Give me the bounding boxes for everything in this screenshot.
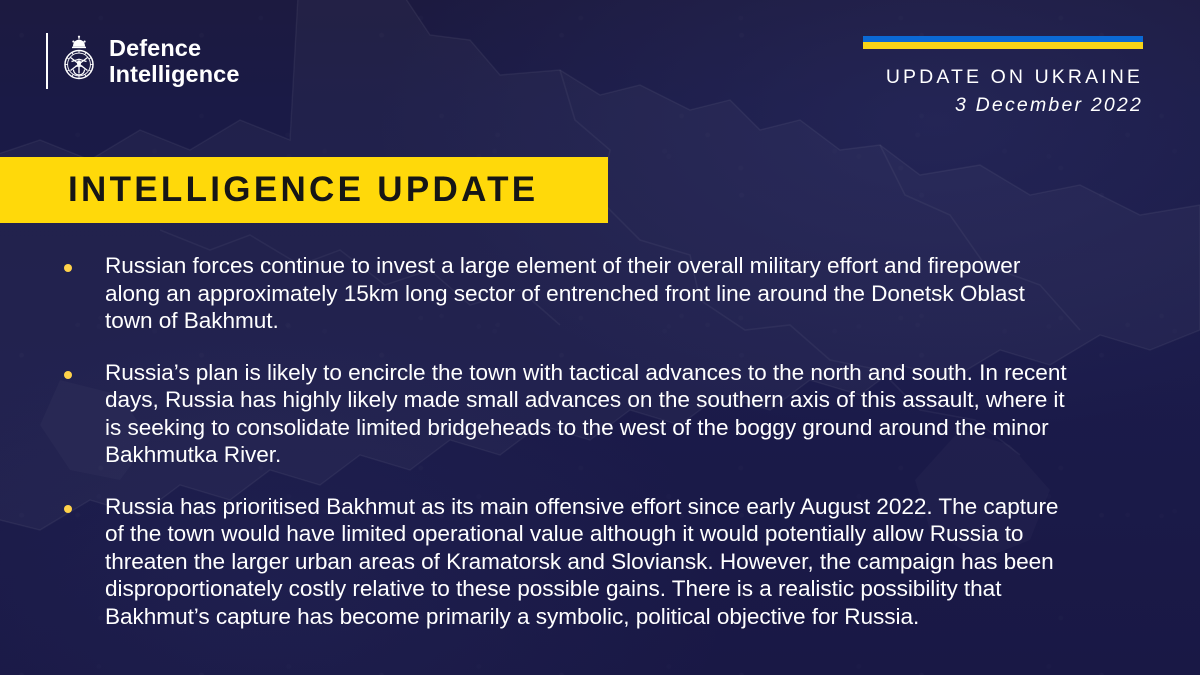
update-on-ukraine-title: UPDATE ON UKRAINE bbox=[863, 66, 1143, 89]
logo-line-intelligence: Intelligence bbox=[109, 61, 239, 87]
header-right-block: UPDATE ON UKRAINE 3 December 2022 bbox=[863, 36, 1143, 117]
bullet-dot-icon bbox=[64, 505, 72, 513]
bullet-text: Russia has prioritised Bakhmut as its ma… bbox=[105, 493, 1076, 631]
intelligence-update-graphic: Defence Intelligence UPDATE ON UKRAINE 3… bbox=[0, 0, 1200, 675]
list-item: Russia’s plan is likely to encircle the … bbox=[64, 359, 1076, 469]
list-item: Russian forces continue to invest a larg… bbox=[64, 252, 1076, 335]
logo-divider-rule bbox=[46, 33, 48, 89]
update-date: 3 December 2022 bbox=[863, 94, 1143, 117]
logo-line-defence: Defence bbox=[109, 35, 239, 61]
flag-stripe-yellow bbox=[863, 42, 1143, 49]
bullet-list: Russian forces continue to invest a larg… bbox=[64, 252, 1076, 630]
bullet-dot-icon bbox=[64, 371, 72, 379]
intelligence-update-banner: INTELLIGENCE UPDATE bbox=[0, 157, 608, 223]
bullet-dot-icon bbox=[64, 264, 72, 272]
list-item: Russia has prioritised Bakhmut as its ma… bbox=[64, 493, 1076, 631]
mod-defence-intelligence-crest-icon bbox=[61, 35, 97, 87]
bullet-text: Russia’s plan is likely to encircle the … bbox=[105, 359, 1076, 469]
banner-title: INTELLIGENCE UPDATE bbox=[68, 170, 538, 210]
bullet-text: Russian forces continue to invest a larg… bbox=[105, 252, 1076, 335]
logo-wordmark: Defence Intelligence bbox=[109, 35, 239, 87]
ukraine-flag-bar-icon bbox=[863, 36, 1143, 49]
defence-intelligence-logo: Defence Intelligence bbox=[46, 33, 239, 89]
